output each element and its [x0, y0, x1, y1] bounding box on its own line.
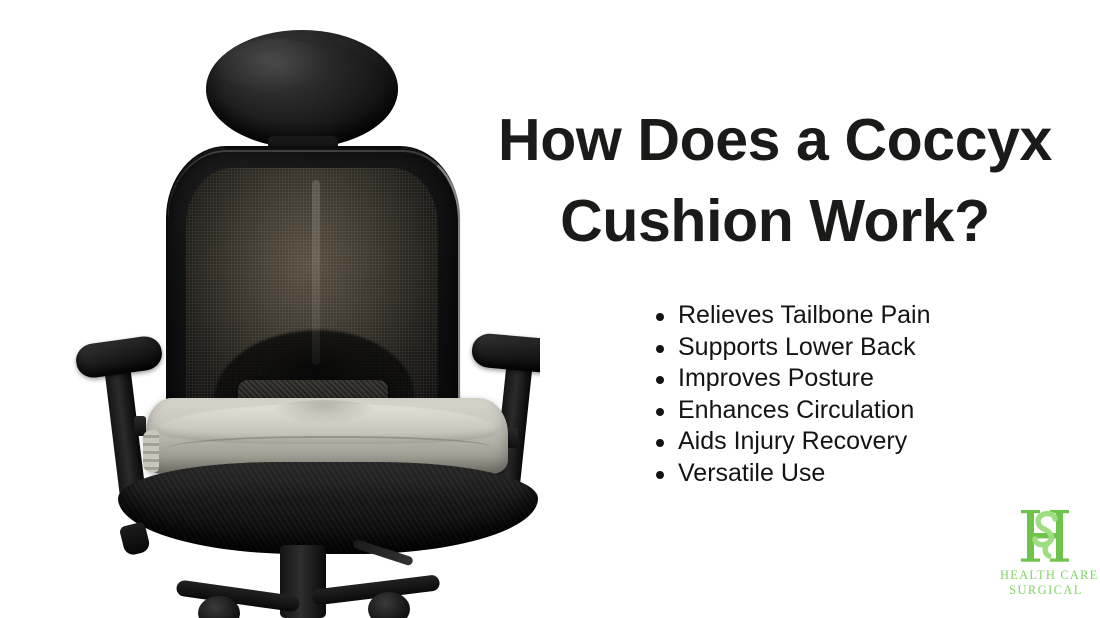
coccyx-cushion-ridges — [143, 430, 159, 472]
list-item: Supports Lower Back — [678, 332, 930, 364]
coccyx-cushion-seam — [166, 436, 492, 452]
chair-seat — [118, 462, 538, 554]
list-item: Enhances Circulation — [678, 395, 930, 427]
coccyx-cushion-cutout — [272, 400, 376, 424]
page-title-line-1: How Does a Coccyx — [470, 100, 1080, 181]
poster-canvas: How Does a Coccyx Cushion Work? Relieves… — [0, 0, 1100, 618]
armrest-right-pad — [471, 332, 540, 373]
product-photo — [0, 0, 540, 618]
list-item: Aids Injury Recovery — [678, 426, 930, 458]
logo-subtitle: SURGICAL — [1000, 583, 1092, 598]
list-item: Improves Posture — [678, 363, 930, 395]
hs-monogram-icon — [1000, 506, 1092, 568]
page-title: How Does a Coccyx Cushion Work? — [470, 100, 1080, 262]
list-item: Relieves Tailbone Pain — [678, 300, 930, 332]
brand-logo: HEALTH CARE SURGICAL — [1000, 506, 1092, 606]
logo-name: HEALTH CARE — [1000, 568, 1092, 583]
benefits-list: Relieves Tailbone Pain Supports Lower Ba… — [652, 300, 930, 490]
caster-right — [368, 592, 410, 618]
armrest-left-pad — [74, 334, 164, 380]
list-item: Versatile Use — [678, 458, 930, 490]
chair-headrest — [206, 30, 398, 148]
page-title-line-2: Cushion Work? — [470, 181, 1080, 262]
backrest-spine — [312, 180, 320, 365]
